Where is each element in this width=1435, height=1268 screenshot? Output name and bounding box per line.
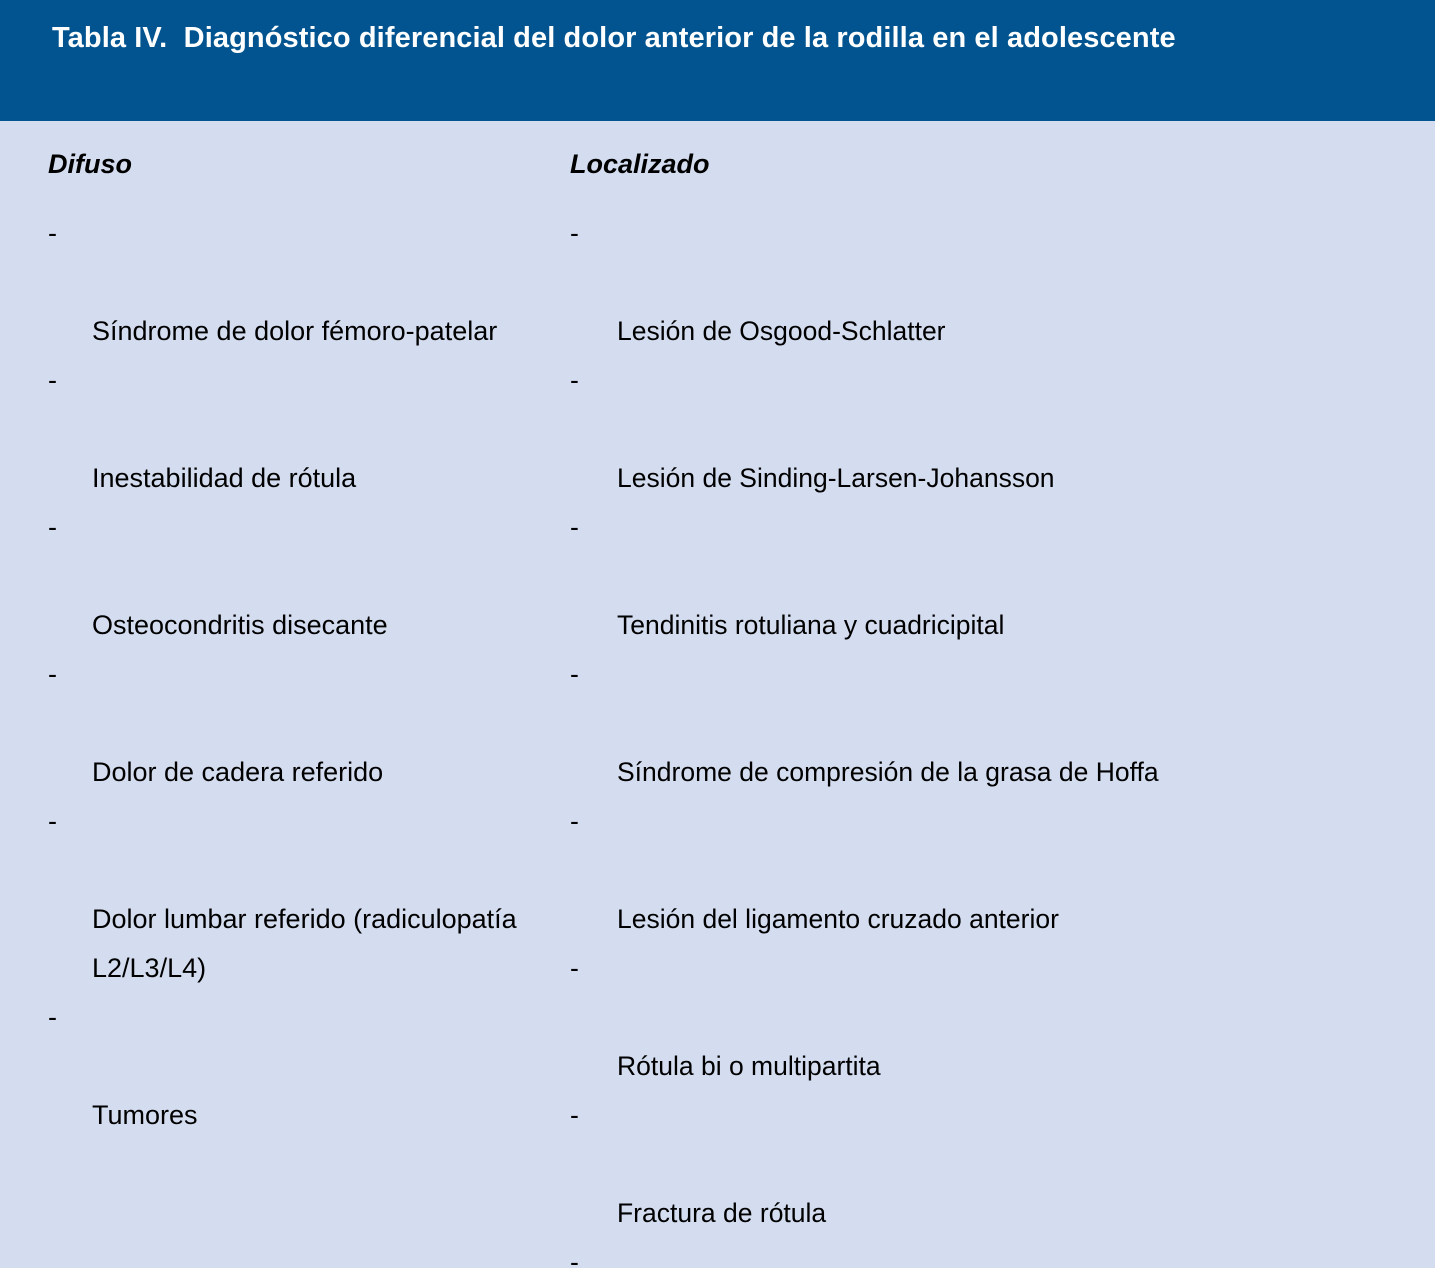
column-heading-difuso: Difuso — [48, 121, 548, 179]
bullet-dash-icon: - — [570, 1238, 579, 1268]
list-item: - Tendinitis rotuliana y cuadricipital — [570, 503, 1420, 650]
list-item: - Bursitis pre-patelar — [570, 1238, 1420, 1268]
list-item: - Rótula bi o multipartita — [570, 944, 1420, 1091]
list-item: - Dolor lumbar referido (radiculopatía L… — [48, 797, 548, 993]
list-item: - Lesión del ligamento cruzado anterior — [570, 797, 1420, 944]
column-localizado: Localizado - Lesión de Osgood-Schlatter … — [570, 121, 1420, 1268]
list-item-label: Inestabilidad de rótula — [92, 463, 356, 493]
table-header-band: Tabla IV. Diagnóstico diferencial del do… — [0, 0, 1435, 121]
list-item-label: Síndrome de compresión de la grasa de Ho… — [617, 757, 1159, 787]
table-title: Tabla IV. Diagnóstico diferencial del do… — [52, 18, 1375, 59]
list-item-label: Dolor de cadera referido — [92, 757, 383, 787]
bullet-dash-icon: - — [570, 503, 579, 552]
bullet-dash-icon: - — [48, 503, 57, 552]
item-list-localizado: - Lesión de Osgood-Schlatter - Lesión de… — [570, 179, 1420, 1268]
list-item-label: Osteocondritis disecante — [92, 610, 388, 640]
list-item-label: Dolor lumbar referido (radiculopatía L2/… — [92, 904, 517, 983]
table-body: Difuso - Síndrome de dolor fémoro-patela… — [0, 121, 1435, 634]
bullet-dash-icon: - — [570, 797, 579, 846]
bullet-dash-icon: - — [48, 993, 57, 1042]
list-item: - Lesión de Sinding-Larsen-Johansson — [570, 356, 1420, 503]
bullet-dash-icon: - — [48, 209, 57, 258]
column-heading-localizado: Localizado — [570, 121, 1420, 179]
list-item: - Tumores — [48, 993, 548, 1140]
bullet-dash-icon: - — [48, 797, 57, 846]
item-list-difuso: - Síndrome de dolor fémoro-patelar - Ine… — [48, 179, 548, 1140]
list-item: - Síndrome de compresión de la grasa de … — [570, 650, 1420, 797]
bullet-dash-icon: - — [48, 356, 57, 405]
list-item: - Fractura de rótula — [570, 1091, 1420, 1238]
list-item-label: Lesión de Osgood-Schlatter — [617, 316, 946, 346]
list-item-label: Rótula bi o multipartita — [617, 1051, 881, 1081]
bullet-dash-icon: - — [570, 944, 579, 993]
table-figure: Tabla IV. Diagnóstico diferencial del do… — [0, 0, 1435, 634]
list-item-label: Síndrome de dolor fémoro-patelar — [92, 316, 497, 346]
list-item: - Dolor de cadera referido — [48, 650, 548, 797]
list-item-label: Tendinitis rotuliana y cuadricipital — [617, 610, 1004, 640]
list-item-label: Lesión del ligamento cruzado anterior — [617, 904, 1059, 934]
bullet-dash-icon: - — [570, 356, 579, 405]
list-item: - Lesión de Osgood-Schlatter — [570, 209, 1420, 356]
bullet-dash-icon: - — [48, 650, 57, 699]
column-difuso: Difuso - Síndrome de dolor fémoro-patela… — [48, 121, 548, 1140]
bullet-dash-icon: - — [570, 650, 579, 699]
bullet-dash-icon: - — [570, 1091, 579, 1140]
list-item: - Inestabilidad de rótula — [48, 356, 548, 503]
list-item-label: Tumores — [92, 1100, 198, 1130]
bullet-dash-icon: - — [570, 209, 579, 258]
list-item-label: Fractura de rótula — [617, 1198, 826, 1228]
list-item: - Osteocondritis disecante — [48, 503, 548, 650]
list-item: - Síndrome de dolor fémoro-patelar — [48, 209, 548, 356]
list-item-label: Lesión de Sinding-Larsen-Johansson — [617, 463, 1055, 493]
